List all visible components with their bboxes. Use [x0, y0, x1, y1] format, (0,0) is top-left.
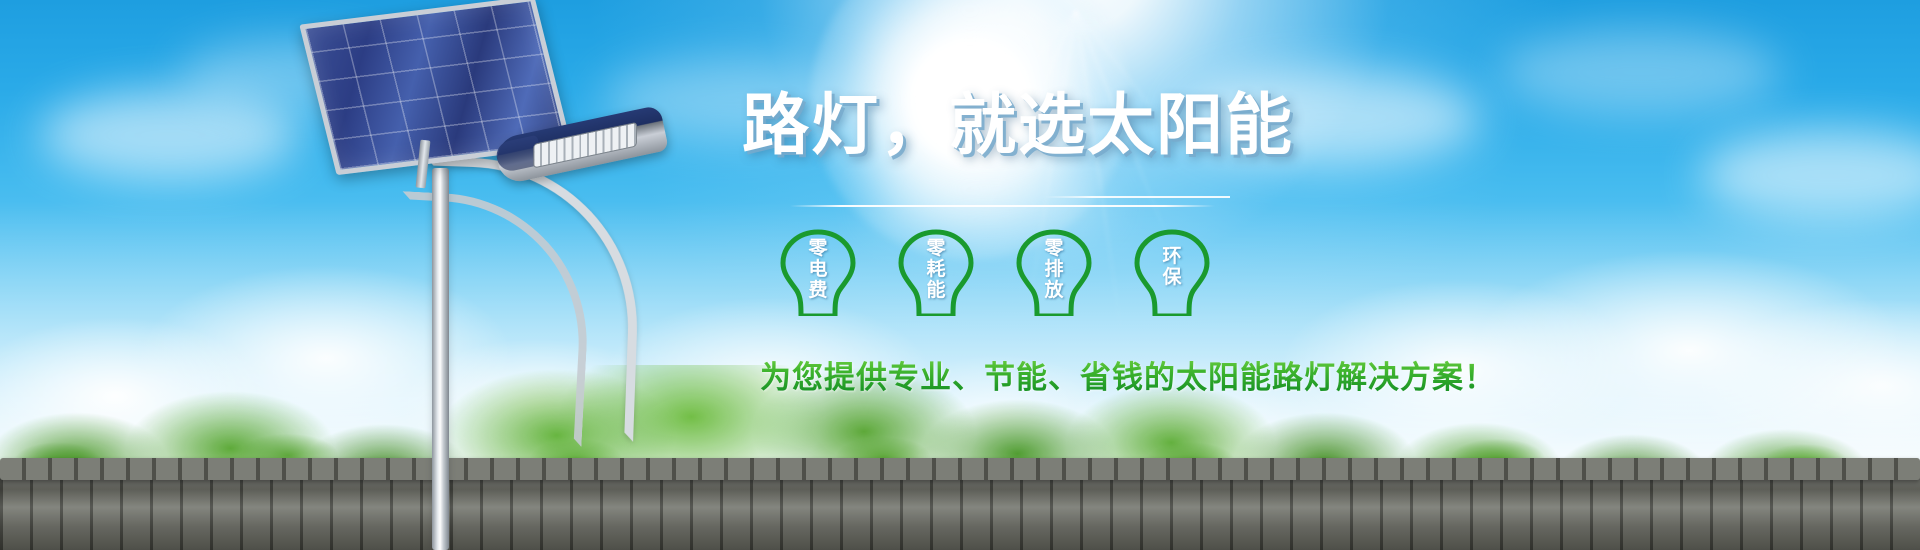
feature-badge-label: 零 电 费 [770, 238, 866, 301]
feature-badge-zero-energy-consumption: 零 耗 能 [888, 228, 984, 316]
feature-badge-zero-electricity-cost: 零 电 费 [770, 228, 866, 316]
feature-badge-label: 零 耗 能 [888, 238, 984, 301]
badge-line: 放 [1006, 280, 1102, 301]
badge-line: 零 [888, 238, 984, 259]
badge-line: 能 [888, 280, 984, 301]
banner-content: 路灯，就选太阳能 零 电 费 零 耗 [0, 0, 1920, 550]
badge-line: 零 [770, 238, 866, 259]
badge-line: 电 [770, 259, 866, 280]
badge-line: 零 [1006, 238, 1102, 259]
feature-badge-label: 零 排 放 [1006, 238, 1102, 301]
badge-line: 费 [770, 280, 866, 301]
feature-badge-environmental-protection: 环 保 [1124, 228, 1220, 316]
divider-line [790, 205, 1215, 207]
feature-badge-zero-emission: 零 排 放 [1006, 228, 1102, 316]
feature-badge-label: 环 保 [1124, 246, 1220, 288]
badge-line: 排 [1006, 259, 1102, 280]
divider-line-top [1045, 196, 1230, 198]
badge-line: 环 [1124, 246, 1220, 267]
solar-street-lamp-banner: 路灯，就选太阳能 零 电 费 零 耗 [0, 0, 1920, 550]
badge-line: 保 [1124, 267, 1220, 288]
banner-tagline: 为您提供专业、节能、省钱的太阳能路灯解决方案！ [760, 352, 1496, 397]
badge-line: 耗 [888, 259, 984, 280]
page-title: 路灯，就选太阳能 [742, 92, 1294, 159]
feature-badge-list: 零 电 费 零 耗 能 零 [770, 228, 1220, 318]
